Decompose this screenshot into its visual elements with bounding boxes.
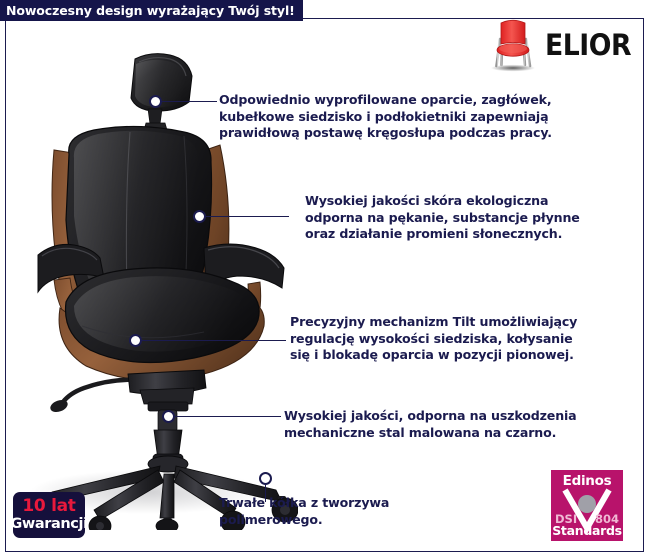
edinos-standards-label: Standards <box>551 523 623 538</box>
callout-dot-backrest[interactable] <box>149 95 162 108</box>
headline-banner: Nowoczesny design wyrażający Twój styl! <box>0 0 303 21</box>
red-chair-icon <box>487 17 541 73</box>
edinos-standards-badge: Edinos DSI 804 Standards <box>551 470 623 541</box>
callout-leader-tilt <box>142 340 286 341</box>
warranty-years: 10 lat <box>22 498 75 515</box>
callout-leader-eco-leather <box>206 216 289 217</box>
callout-dot-casters[interactable] <box>259 472 272 485</box>
callout-text-backrest: Odpowiednio wyprofilowane oparcie, zagłó… <box>219 92 619 142</box>
callout-text-tilt: Precyzyjny mechanizm Tilt umożliwiający … <box>290 314 630 364</box>
promo-infographic: Nowoczesny design wyrażający Twój styl! <box>0 0 650 560</box>
brand-logo: ELIOR <box>487 16 637 74</box>
brand-name: ELIOR <box>545 31 631 60</box>
callout-dot-tilt[interactable] <box>129 334 142 347</box>
warranty-badge: 10 lat Gwarancji <box>13 492 85 538</box>
callout-text-casters: Trwałe kółka z tworzywa polimerowego. <box>219 495 539 528</box>
callout-dot-steel-base[interactable] <box>162 410 175 423</box>
warranty-label: Gwarancji <box>10 517 87 532</box>
callout-dot-eco-leather[interactable] <box>193 210 206 223</box>
callout-text-eco-leather: Wysokiej jakości skóra ekologiczna odpor… <box>305 193 635 243</box>
callout-leader-steel-base <box>175 416 281 417</box>
callout-leader-backrest <box>162 101 217 102</box>
callout-text-steel-base: Wysokiej jakości, odporna na uszkodzenia… <box>284 408 624 441</box>
